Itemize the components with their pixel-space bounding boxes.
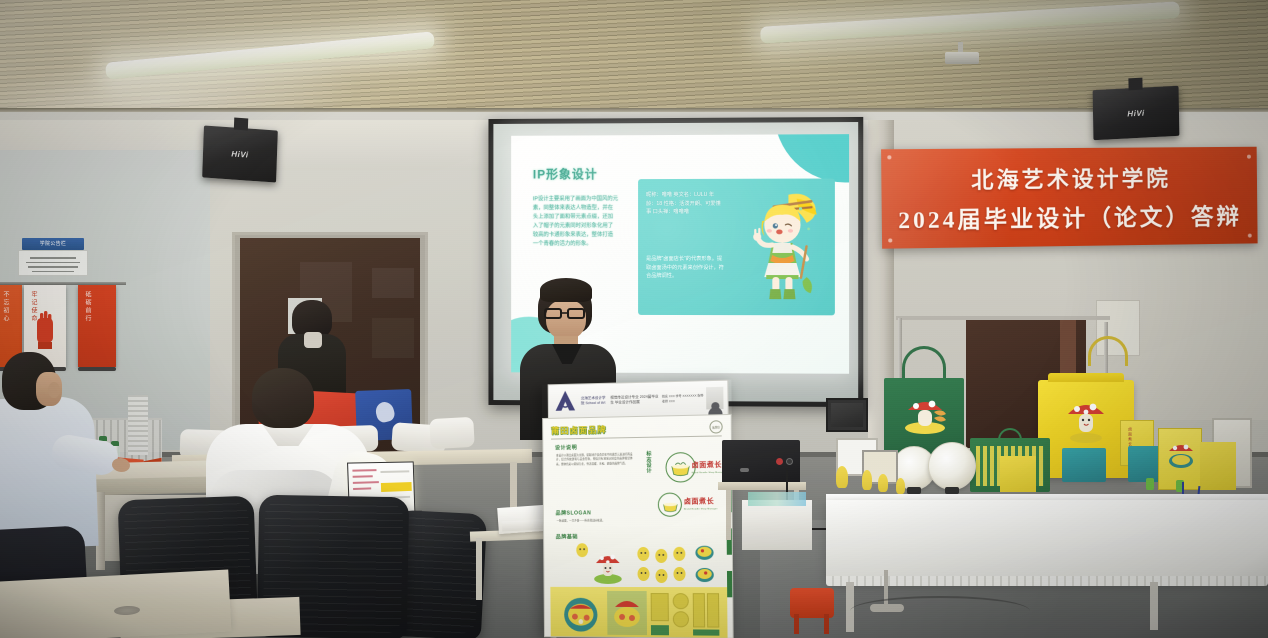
floor-cable — [850, 596, 1030, 626]
package-artwork — [1060, 392, 1112, 448]
poster-packaging-artwork — [607, 591, 647, 635]
display-table-cloth-hem — [826, 576, 1268, 586]
poster-title: 莆田卤面品牌 — [551, 424, 607, 437]
poster-header-info: 视觉传达设计专业 2024届毕业生 毕业设计作品展 — [606, 394, 662, 406]
person-doorway-collar — [304, 332, 322, 348]
product-cap — [1146, 478, 1154, 490]
wall-speaker-right: HiVi — [1093, 86, 1180, 140]
exhibition-poster-board: 北海艺术设计学院 School of Art 视觉传达设计专业 2024届毕业生… — [542, 380, 734, 638]
ceiling-light-tube-2 — [760, 1, 1180, 44]
white-cabinet — [742, 500, 812, 550]
poster-mascot-small — [654, 567, 668, 584]
speaker-bracket — [1128, 78, 1142, 91]
event-banner-line-2: 2024届毕业设计（论文）答辩 — [898, 197, 1242, 235]
noodle-bowl-icon — [668, 455, 692, 479]
mascot-character-illustration — [744, 189, 819, 308]
speaker-right-brand: HiVi — [1127, 108, 1144, 118]
av-knob-red[interactable] — [776, 458, 783, 465]
poster-packaging-artwork — [560, 593, 601, 635]
foreground-desk — [0, 570, 231, 638]
ceiling-light-tube-1 — [105, 31, 435, 80]
presenter-hair-top — [540, 278, 592, 302]
brand-logo-wordmark: 卤面煮长 — [692, 460, 722, 471]
speaker-bracket — [234, 118, 248, 131]
wall-banner-red-text: 砥砺前行 — [78, 285, 91, 323]
brand-logo-wordmark: 卤面煮长 — [684, 496, 714, 506]
poster-body: 莆田卤面品牌 品牌印 设计说明 本设计以莆田卤面为主题，提取地方饮食文化中的典型… — [542, 414, 734, 638]
poster-seal-icon: 品牌印 — [709, 420, 722, 433]
ceiling — [0, 0, 1268, 120]
poster-section-design-note: 设计说明 — [555, 444, 577, 451]
slide-body-text: IP设计主要采用了画面为中国风的元素，同整体来表达人物造型，并在头上添加了面和带… — [533, 195, 618, 249]
stool-leg — [794, 614, 799, 634]
poster-section-slogan: 品牌SLOGAN — [556, 509, 592, 516]
package-top-seal — [1048, 373, 1124, 382]
brand-logo-subtext: Brand Noodle Shop Manager — [692, 472, 726, 474]
poster-bowl-icon — [694, 543, 714, 561]
poster-mascot-small — [672, 545, 686, 562]
school-logo-icon — [553, 388, 579, 414]
radiator-pipe — [128, 395, 148, 455]
decorative-plate — [928, 442, 976, 490]
poster-bowl-icon — [695, 565, 715, 583]
package-artwork — [1165, 437, 1197, 471]
framed-artwork-wall — [826, 398, 868, 432]
mascot-figurine — [878, 474, 888, 492]
poster-mascot-illustration — [591, 543, 625, 585]
av-shelf-leg — [726, 490, 731, 540]
wall-banner-orange-text: 不忘初心 — [0, 285, 9, 323]
product-card-text: 卤面煮长 — [1127, 427, 1133, 447]
poster-mascot-small — [636, 565, 650, 582]
poster-slogan-text: 一碗卤面，一方乡情——传承莆田好味道。 — [557, 519, 640, 524]
poster-section-logo-design: 标志设计 — [645, 451, 652, 474]
poster-mascot-small — [575, 541, 589, 558]
photo-scene: 学院公告栏 不忘初心 牢记使命 砥砺前行 — [0, 0, 1268, 638]
mascot-figurine — [836, 466, 848, 488]
brand-logo-small — [658, 492, 682, 516]
av-display-panel — [740, 468, 749, 472]
wall-sign-blue: 学院公告栏 — [22, 238, 84, 250]
mascot-figurine — [862, 470, 872, 490]
tote-bag-artwork — [896, 384, 954, 438]
laptop-highlighted-row — [381, 482, 412, 492]
brand-logo-subtext: Brand Noodle Shop Manager — [684, 508, 718, 510]
display-table-cloth — [826, 500, 1268, 582]
ceiling-projector — [945, 52, 979, 64]
av-knob[interactable] — [786, 458, 793, 465]
door-panel — [372, 268, 414, 298]
panel-judge-center-head — [252, 368, 314, 428]
poster-mascot-small — [654, 547, 668, 564]
raised-fist-icon — [29, 305, 59, 350]
slide-title: IP形象设计 — [533, 165, 598, 182]
noodle-bowl-icon — [660, 495, 679, 514]
event-banner: 北海艺术设计学院 2024届毕业设计（论文）答辩 — [881, 147, 1258, 249]
slide-decor-blob — [774, 134, 849, 183]
product-package-small — [1200, 442, 1236, 490]
poster-header-meta: 姓名 XXX 学号 XXXXXXX 指导老师 XXX — [662, 394, 706, 404]
poster-header-portrait — [706, 387, 723, 410]
product-box-yellow — [1000, 456, 1036, 492]
poster-design-paragraph: 本设计以莆田卤面为主题，提取地方饮食文化中的典型元素进行再设计，结合传统建筑与美… — [556, 453, 633, 467]
speaker-left-brand: HiVi — [231, 149, 249, 159]
slide-character-desc: 是品牌“卤面店长”的代表形象。提取卤面汤中的元素来创作设计，符合品牌调性。 — [646, 255, 726, 281]
panel-judge-left-ear — [48, 382, 60, 398]
stool-leg — [824, 614, 829, 634]
cabinet-items — [748, 492, 806, 506]
event-banner-line-1: 北海艺术设计学院 — [971, 161, 1171, 195]
mascot-figurine — [896, 478, 905, 494]
poster-pattern-panel — [550, 587, 727, 638]
slide-character-info: 昵称：噜噜 英文名：LULU 年龄：18 性格：活泼开朗、可爱懂事 口头禅：噜噜… — [646, 191, 724, 217]
display-table-leg — [1150, 582, 1158, 630]
wall-banner-red: 砥砺前行 — [78, 285, 116, 367]
garment-rack-bar — [896, 316, 1110, 320]
poster-section-brand-basics: 品牌基础 — [556, 533, 578, 540]
tote-bag-handle — [902, 346, 946, 382]
slide-info-card: 昵称：噜噜 英文名：LULU 年龄：18 性格：活泼开朗、可爱懂事 口头禅：噜噜… — [638, 178, 835, 315]
wall-sign-white — [18, 250, 88, 276]
poster-header-org: 北海艺术设计学院 School of Art — [581, 396, 607, 407]
white-bundle — [429, 417, 475, 449]
product-box-teal — [1062, 448, 1106, 482]
poster-mascot-small — [636, 545, 650, 562]
side-table-leg — [476, 538, 482, 600]
wall-speaker-left: HiVi — [202, 125, 278, 182]
poster-mascot-small — [672, 565, 686, 582]
presenter-glasses-icon — [544, 306, 588, 320]
door-panel — [372, 318, 414, 358]
